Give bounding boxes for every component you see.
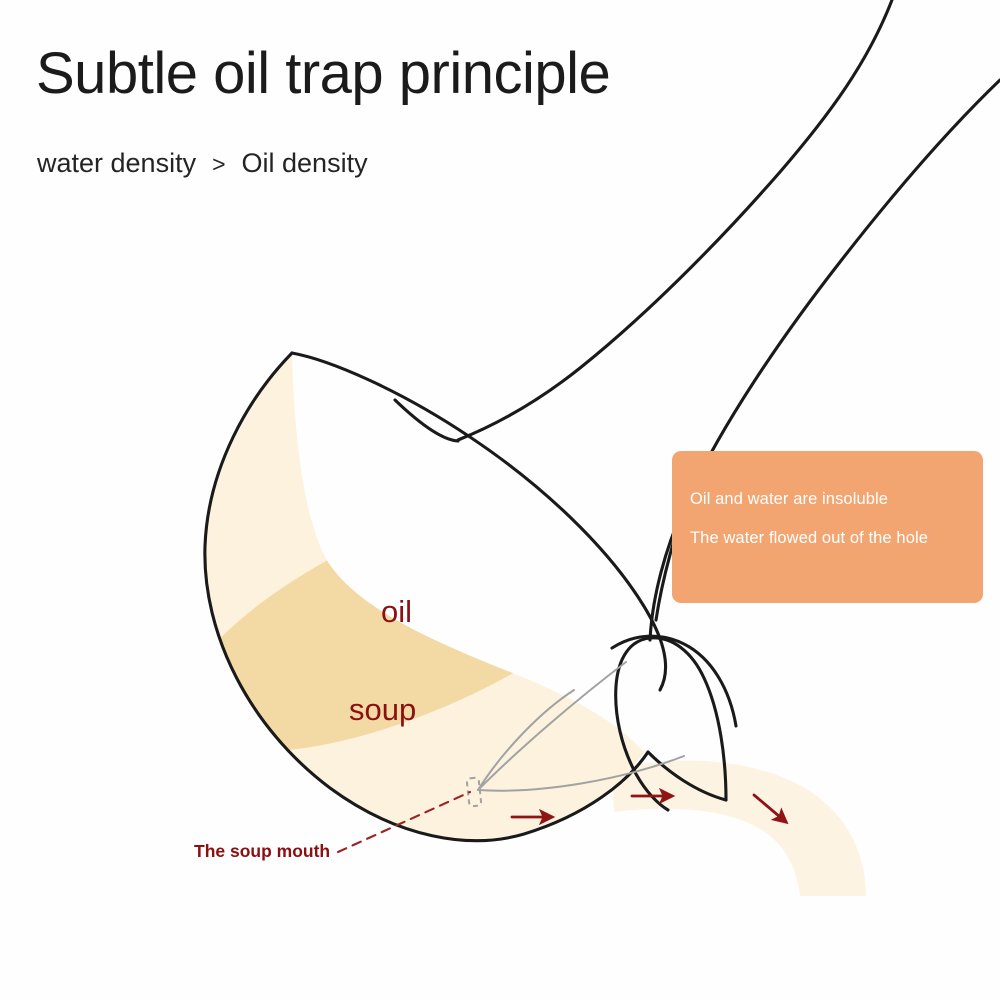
poured-soup-stream xyxy=(612,760,866,896)
liquid-fills xyxy=(148,353,689,839)
oil-label: oil xyxy=(381,596,412,627)
illustration-page: Subtle oil trap principle water density … xyxy=(0,0,1000,1000)
callout-line-1: Oil and water are insoluble xyxy=(690,491,983,508)
info-callout: Oil and water are insoluble The water fl… xyxy=(672,451,983,603)
subtitle-oil-density: Oil density xyxy=(242,148,368,179)
greater-than-icon: > xyxy=(196,151,241,178)
soup-label: soup xyxy=(349,694,416,725)
subtitle-water-density: water density xyxy=(37,148,196,179)
soup-mouth-label: The soup mouth xyxy=(194,843,330,861)
subtitle: water density > Oil density xyxy=(37,148,368,179)
page-title: Subtle oil trap principle xyxy=(36,44,610,105)
callout-line-2: The water flowed out of the hole xyxy=(690,530,983,547)
